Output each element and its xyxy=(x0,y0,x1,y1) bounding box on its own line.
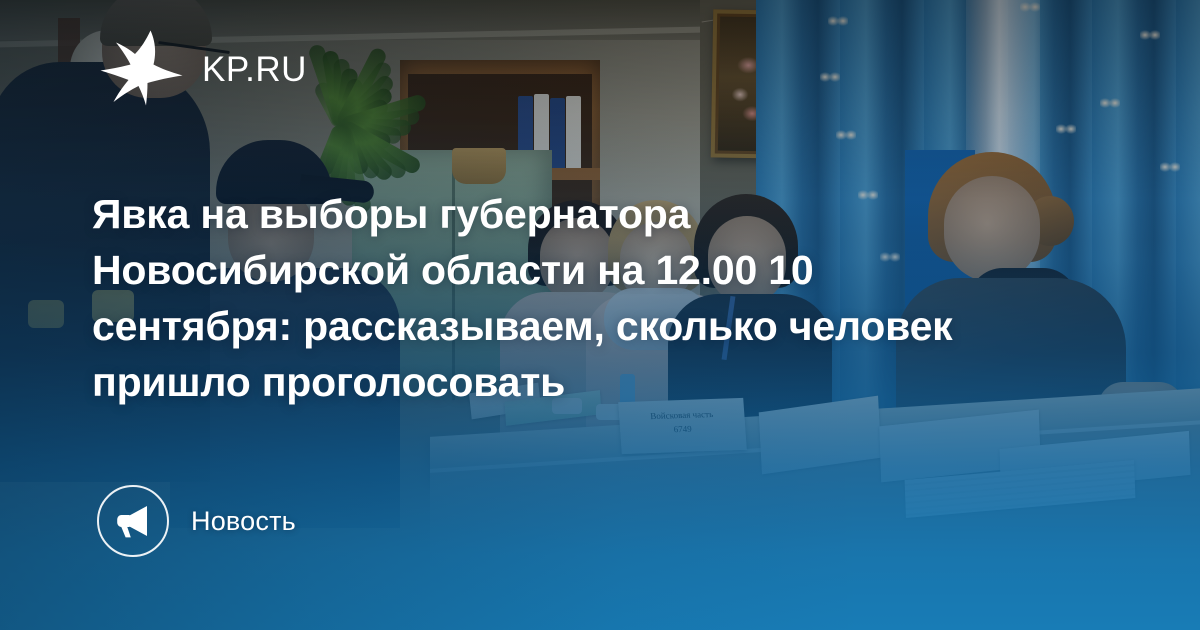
card-content: KP.RU Явка на выборы губернатора Новосиб… xyxy=(0,0,1200,630)
news-share-card: Войсковая часть 6749 KP.RU Явка на выбор xyxy=(0,0,1200,630)
brand-name: KP.RU xyxy=(202,48,307,87)
badge-ring xyxy=(97,485,169,557)
megaphone-icon xyxy=(115,504,151,538)
badge-label: Новость xyxy=(191,506,296,537)
kp-bird-logo-icon xyxy=(96,28,188,106)
content-type-badge[interactable]: Новость xyxy=(97,485,296,557)
page-title: Явка на выборы губернатора Новосибирской… xyxy=(92,186,992,410)
brand-lockup[interactable]: KP.RU xyxy=(96,28,307,106)
